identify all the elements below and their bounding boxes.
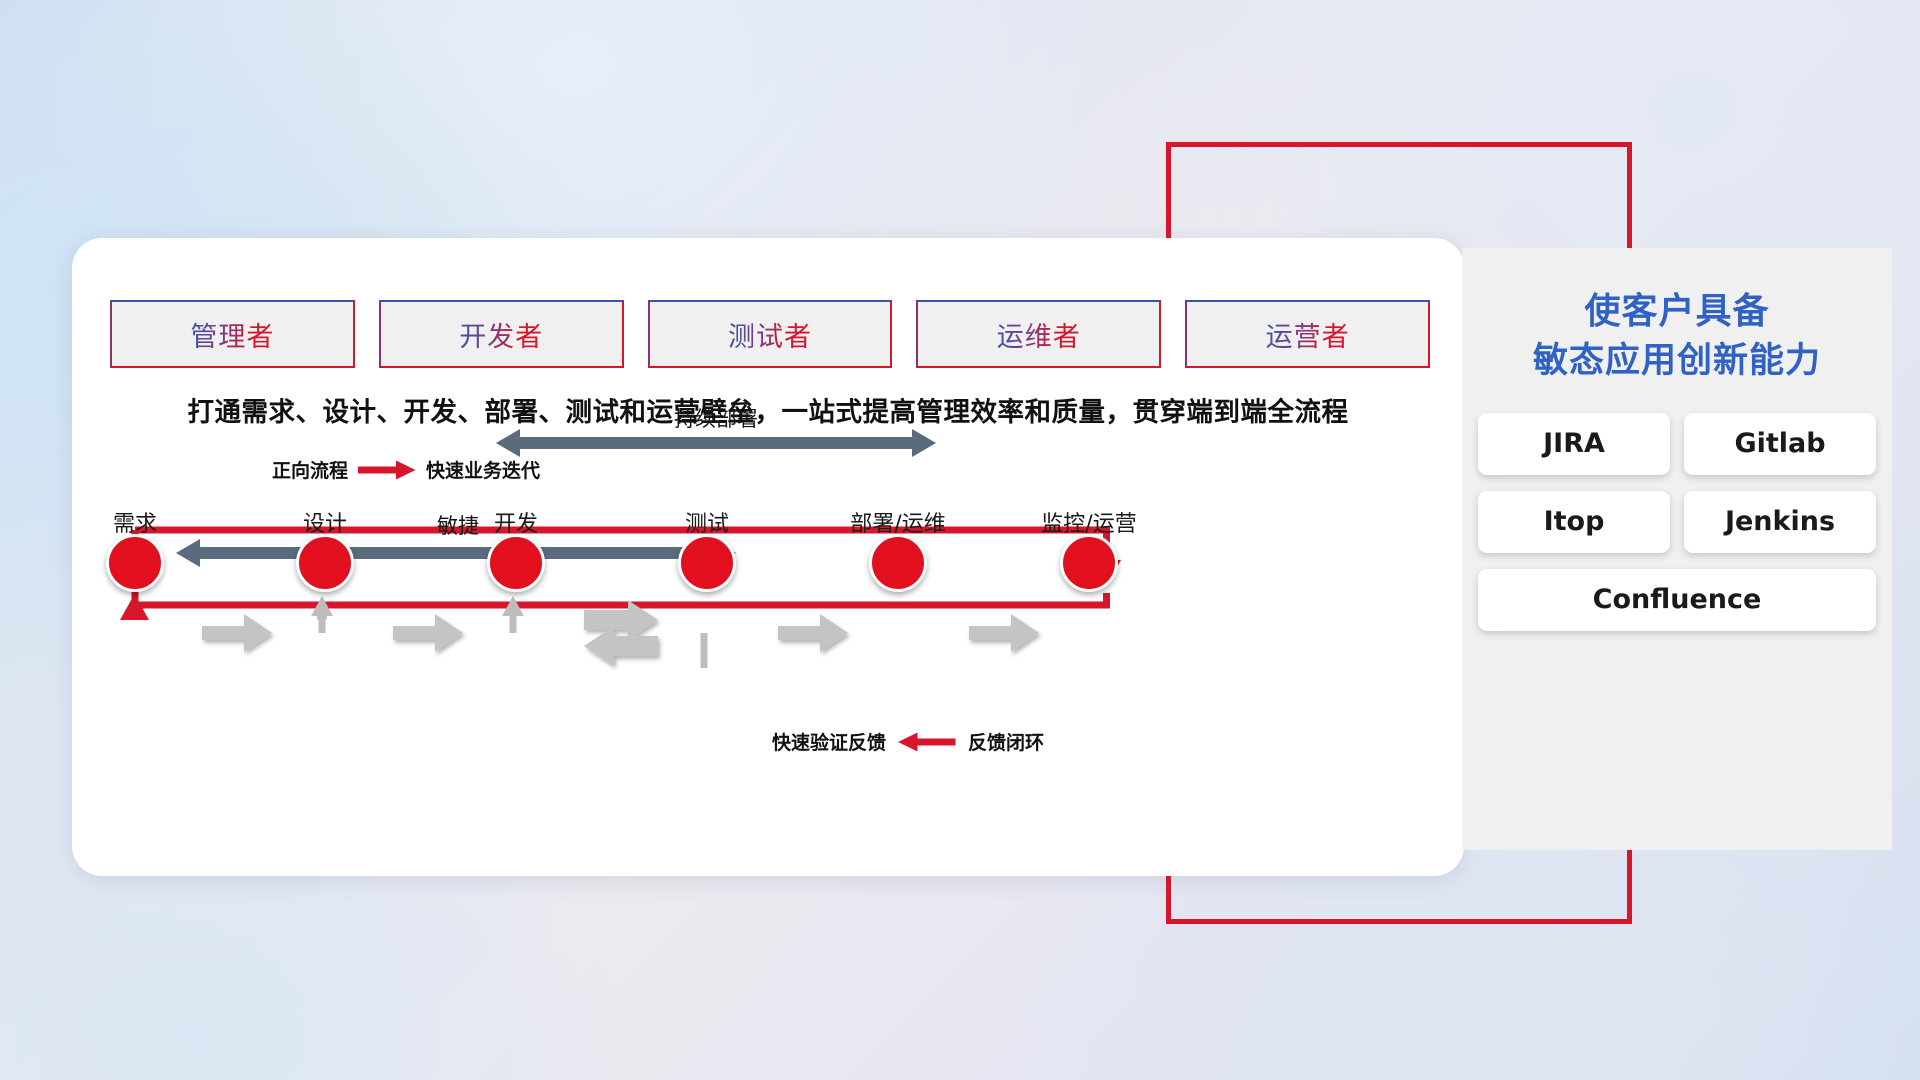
stage-node-deploy-ops[interactable] (869, 534, 927, 592)
main-card: 管理者 开发者 测试者 运维者 运营者 打通需求、设计、开发、部署、测试和运营壁… (72, 238, 1464, 876)
tool-tag-list: JIRA Gitlab Itop Jenkins Confluence (1478, 413, 1876, 631)
dev-test-swap-icon (584, 600, 658, 666)
tool-tag-gitlab[interactable]: Gitlab (1684, 413, 1876, 475)
role-label: 开发者 (459, 315, 543, 354)
stage-label-test: 测试 (685, 506, 729, 538)
tool-tag-jenkins[interactable]: Jenkins (1684, 491, 1876, 553)
stage-node-requirement[interactable] (106, 534, 164, 592)
description-text: 打通需求、设计、开发、部署、测试和运营壁垒，一站式提高管理效率和质量，贯穿端到端… (72, 390, 1464, 429)
legend-forward-label: 正向流程 (272, 456, 348, 483)
agile-arrow (176, 539, 736, 567)
panel-title-line1: 使客户具备 (1462, 286, 1892, 337)
role-box-tester[interactable]: 测试者 (648, 300, 893, 368)
stage-label-design: 设计 (303, 506, 347, 538)
role-label: 运维者 (997, 315, 1081, 354)
side-panel: 使客户具备 敏态应用创新能力 JIRA Gitlab Itop Jenkins … (1462, 248, 1892, 850)
continuous-deployment-arrow (496, 429, 936, 457)
red-left-arrow-icon (898, 732, 956, 752)
legend-feedback-label: 反馈闭环 (968, 728, 1044, 755)
role-box-operator[interactable]: 运营者 (1185, 300, 1430, 368)
node-feeder-lines (317, 606, 704, 668)
tool-tag-confluence[interactable]: Confluence (1478, 569, 1876, 631)
legend-forward-target: 快速业务迭代 (426, 456, 540, 483)
role-label: 运营者 (1266, 315, 1350, 354)
role-box-developer[interactable]: 开发者 (379, 300, 624, 368)
role-label: 测试者 (728, 315, 812, 354)
role-box-manager[interactable]: 管理者 (110, 300, 355, 368)
stage-node-design[interactable] (296, 534, 354, 592)
stage-label-monitor-operate: 监控/运营 (1041, 506, 1136, 538)
stage-node-test[interactable] (678, 534, 736, 592)
panel-title: 使客户具备 敏态应用创新能力 (1462, 286, 1892, 387)
legend-forward-flow: 正向流程 快速业务迭代 (272, 456, 540, 483)
stage-node-monitor-operate[interactable] (1060, 534, 1118, 592)
tool-tag-itop[interactable]: Itop (1478, 491, 1670, 553)
legend-feedback-result: 快速验证反馈 (772, 728, 886, 755)
stage-label-deploy-ops: 部署/运维 (850, 506, 945, 538)
stage-node-develop[interactable] (487, 534, 545, 592)
stage-label-develop: 开发 (494, 506, 538, 538)
stage-connector-arrows (202, 614, 1039, 652)
role-box-ops[interactable]: 运维者 (916, 300, 1161, 368)
stage-label-requirement: 需求 (113, 506, 157, 538)
role-label: 管理者 (190, 315, 274, 354)
panel-title-line2: 敏态应用创新能力 (1462, 337, 1892, 387)
role-boxes-row: 管理者 开发者 测试者 运维者 运营者 (110, 300, 1430, 368)
node-feeder-arrowheads (311, 596, 524, 616)
label-agile: 敏捷 (437, 510, 479, 540)
red-process-loop (120, 530, 1121, 620)
red-right-arrow-icon (358, 460, 416, 480)
legend-feedback-loop: 快速验证反馈 反馈闭环 (772, 728, 1044, 755)
tool-tag-jira[interactable]: JIRA (1478, 413, 1670, 475)
